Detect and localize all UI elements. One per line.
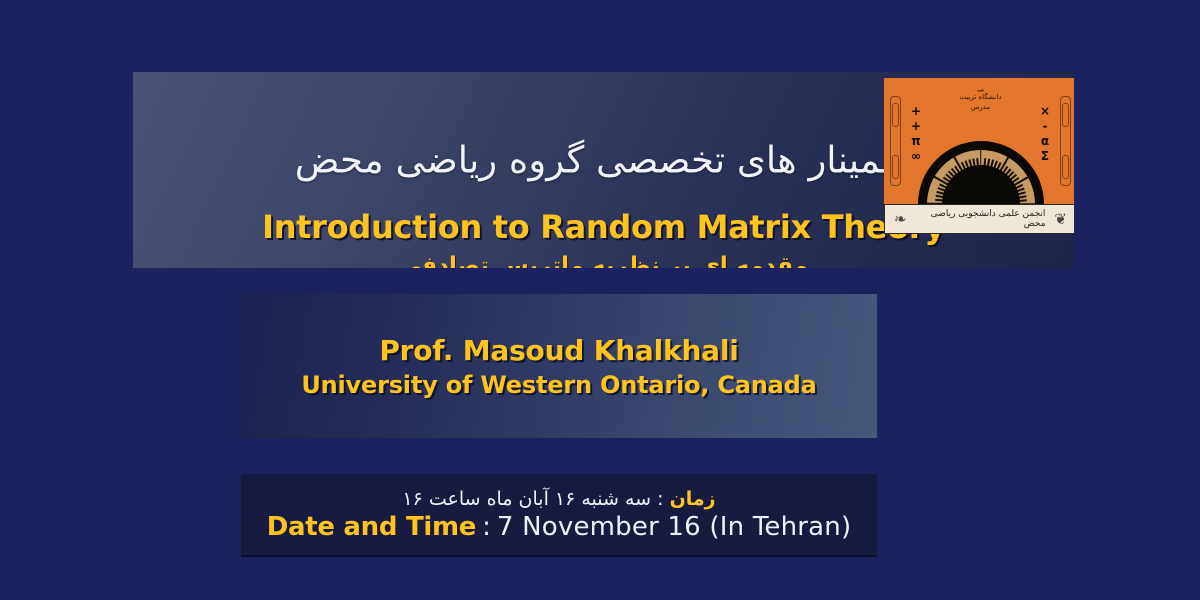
symbol-plus-2: + [906,119,926,134]
ornament-right-icon: ❦ [1045,212,1074,227]
persian-datetime-value: سه شنبه ۱۶ آبان ماه ساعت ۱۶ [402,488,651,510]
seminar-poster: سمینار های تخصصی گروه ریاضی محض Introduc… [0,0,1200,600]
iran-emblem-icon: ؀ [951,81,1011,92]
ornament-left-icon: ❧ [885,212,916,227]
symbol-minus: - [1035,119,1055,134]
speaker-name: Prof. Masoud Khalkhali [379,334,738,367]
logo-university-name: دانشگاه تربیت مدرس [951,92,1011,112]
logo-pillar-left-icon [890,96,901,186]
logo-society-name: انجمن علمی دانشجویی ریاضی محض [916,209,1046,229]
persian-datetime-separator: : [651,488,669,510]
speaker-affiliation: University of Western Ontario, Canada [301,371,816,399]
english-datetime-label: Date and Time [267,512,476,542]
university-logo: ؀ دانشگاه تربیت مدرس + + π ∞ × - α Σ [884,72,1074,208]
persian-datetime-label: زمان [670,488,716,510]
header-banner: سمینار های تخصصی گروه ریاضی محض Introduc… [133,72,1074,268]
logo-caption-strip: ❧ انجمن علمی دانشجویی ریاضی محض ❦ [884,204,1074,234]
logo-pillar-right-icon [1060,96,1071,186]
persian-talk-subtitle: مقدمه ای بر نظریه ماتریس تصادفی [133,253,1074,268]
datetime-block: زمان : سه شنبه ۱۶ آبان ماه ساعت ۱۶ Date … [241,474,877,557]
logo-crest: ؀ دانشگاه تربیت مدرس [951,81,1011,103]
protractor-icon [918,141,1044,204]
symbol-plus-1: + [906,104,926,119]
english-datetime-separator: : [482,512,491,542]
logo-orange-panel: ؀ دانشگاه تربیت مدرس + + π ∞ × - α Σ [884,78,1074,204]
english-datetime-value: 7 November 16 (In Tehran) [497,512,851,542]
symbol-times: × [1035,104,1055,119]
english-datetime-line: Date and Time : 7 November 16 (In Tehran… [267,512,852,542]
persian-datetime-line: زمان : سه شنبه ۱۶ آبان ماه ساعت ۱۶ [402,488,715,510]
speaker-block: Prof. Masoud Khalkhali University of Wes… [241,294,877,438]
